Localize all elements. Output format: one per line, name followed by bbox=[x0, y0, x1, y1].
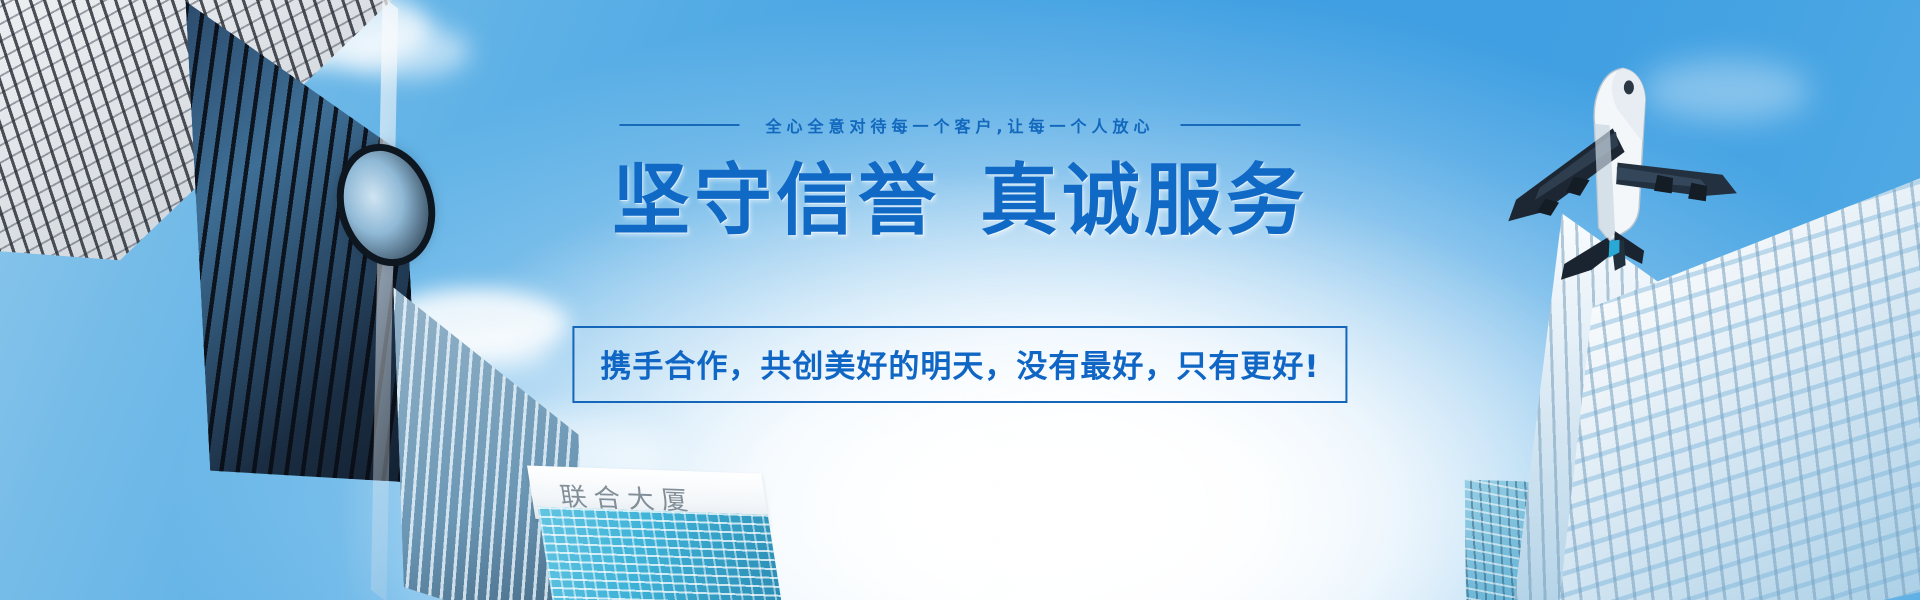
mid-glass-tower bbox=[250, 300, 580, 600]
building-body bbox=[538, 507, 785, 600]
hero-banner: 联合大厦 bbox=[0, 0, 1920, 600]
united-building: 联合大厦 bbox=[531, 450, 790, 600]
